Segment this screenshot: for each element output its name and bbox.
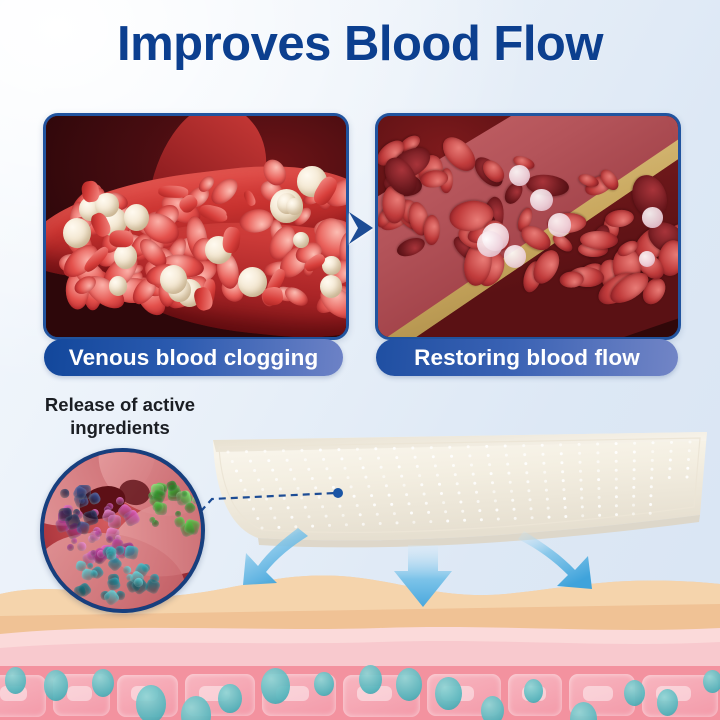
active-ingredient-particle <box>95 530 102 537</box>
patch-perforations <box>227 441 692 530</box>
skin-cell-nucleus <box>583 686 613 701</box>
absorbed-particle <box>435 677 461 710</box>
comparison-panel-after <box>375 113 681 340</box>
release-caption-line2: ingredients <box>32 417 208 440</box>
white-cell <box>548 213 572 237</box>
absorbed-particle <box>136 685 166 720</box>
absorbed-particle <box>359 665 382 694</box>
absorbed-particle <box>5 667 26 694</box>
skin-cell-nucleus <box>67 686 93 701</box>
patch-shape <box>213 432 707 547</box>
absorbed-particle <box>261 668 290 704</box>
release-caption-line1: Release of active <box>32 394 208 417</box>
absorbed-particle <box>657 689 678 716</box>
absorbed-particle <box>396 668 422 701</box>
white-cell <box>109 276 127 296</box>
micro-view-circle <box>40 448 205 613</box>
white-cell <box>477 231 503 257</box>
white-cell <box>293 232 309 248</box>
active-ingredient-particle <box>124 545 139 560</box>
white-cell <box>504 245 527 267</box>
infographic-root: Improves Blood Flow Venous blood cloggin… <box>0 0 720 720</box>
comparison-panel-before <box>43 113 349 340</box>
right-arrow-notch-icon <box>349 212 358 244</box>
absorbed-particle <box>703 670 720 693</box>
release-caption: Release of active ingredients <box>32 394 208 439</box>
white-cell <box>286 198 303 215</box>
page-title: Improves Blood Flow <box>0 20 720 69</box>
absorbed-particle <box>44 670 69 701</box>
platelet <box>110 230 134 248</box>
callout-dot <box>333 488 343 498</box>
healthy-flow-image <box>378 116 678 337</box>
absorbed-particle <box>624 680 645 706</box>
clogged-vein-image <box>46 116 346 337</box>
caption-venous-blood-clogging: Venous blood clogging <box>44 339 343 376</box>
white-cell <box>642 207 663 228</box>
active-ingredient-particle <box>122 565 130 573</box>
active-ingredient-particle <box>67 544 74 551</box>
absorbed-particle <box>314 672 334 697</box>
caption-restoring-blood-flow: Restoring blood flow <box>376 339 678 376</box>
white-cell <box>530 189 553 212</box>
absorbed-particle <box>481 696 504 720</box>
